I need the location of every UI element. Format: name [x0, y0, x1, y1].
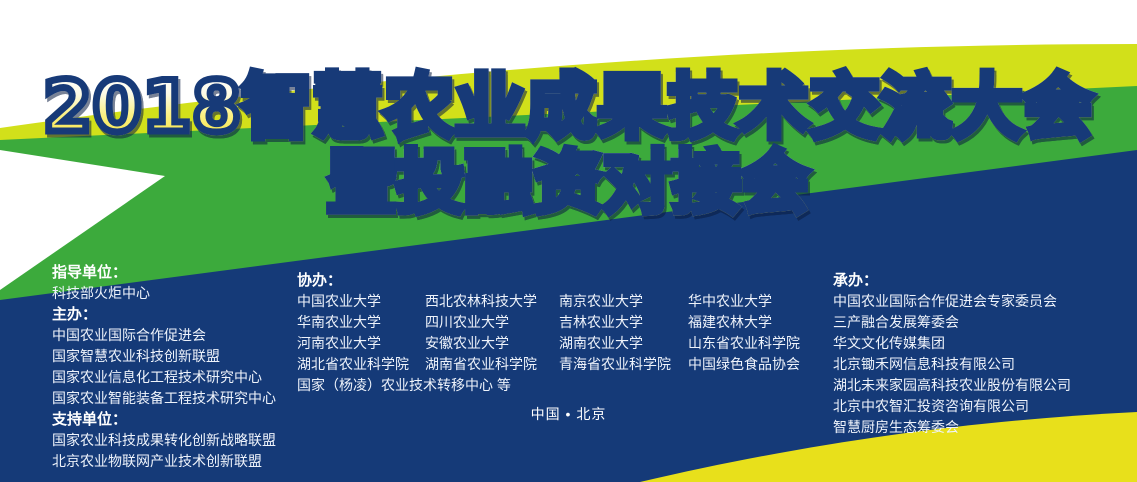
organizer-item: 中国农业国际合作促进会 [52, 325, 276, 346]
coorganizer-row: 中国农业大学 西北农林科技大学 南京农业大学 华中农业大学 [297, 291, 808, 312]
host-item: 湖北未来家园高科技农业股份有限公司 [833, 375, 1071, 396]
credits-column-middle: 协办： 中国农业大学 西北农林科技大学 南京农业大学 华中农业大学 华南农业大学… [297, 270, 808, 396]
coorganizer-item: 中国农业大学 [297, 291, 425, 312]
guidance-unit-heading: 指导单位： [52, 262, 276, 283]
coorganizer-item: 山东省农业科学院 [688, 333, 808, 354]
guidance-unit-item: 科技部火炬中心 [52, 283, 276, 304]
poster-banner: 2018智慧农业成果技术交流大会 暨投融资对接会 指导单位： 科技部火炬中心 主… [0, 0, 1137, 482]
venue-label: 中国 • 北京 [0, 404, 1137, 424]
host-item: 三产融合发展筹委会 [833, 312, 1071, 333]
host-item: 中国农业国际合作促进会专家委员会 [833, 291, 1071, 312]
support-unit-item: 北京农业物联网产业技术创新联盟 [52, 451, 276, 472]
coorganizer-item: 安徽农业大学 [425, 333, 559, 354]
coorganizer-item: 华南农业大学 [297, 312, 425, 333]
coorganizer-item: 西北农林科技大学 [425, 291, 559, 312]
coorganizer-item: 中国绿色食品协会 [688, 354, 808, 375]
credits-column-left: 指导单位： 科技部火炬中心 主办： 中国农业国际合作促进会 国家智慧农业科技创新… [52, 262, 276, 472]
host-item: 北京锄禾网信息科技有限公司 [833, 354, 1071, 375]
coorganizer-heading: 协办： [297, 270, 808, 291]
organizer-heading: 主办： [52, 304, 276, 325]
coorganizer-item: 湖北省农业科学院 [297, 354, 425, 375]
coorganizer-item: 吉林农业大学 [559, 312, 688, 333]
coorganizer-item: 福建农林大学 [688, 312, 808, 333]
coorganizer-item: 湖南省农业科学院 [425, 354, 559, 375]
coorganizer-item: 南京农业大学 [559, 291, 688, 312]
coorganizer-row: 湖北省农业科学院 湖南省农业科学院 青海省农业科学院 中国绿色食品协会 [297, 354, 808, 375]
coorganizer-last-item: 国家（杨凌）农业技术转移中心 等 [297, 375, 808, 396]
coorganizer-row: 华南农业大学 四川农业大学 吉林农业大学 福建农林大学 [297, 312, 808, 333]
host-item: 华文文化传媒集团 [833, 333, 1071, 354]
organizer-item: 国家农业信息化工程技术研究中心 [52, 367, 276, 388]
coorganizer-item: 青海省农业科学院 [559, 354, 688, 375]
host-heading: 承办： [833, 270, 1071, 291]
coorganizer-item: 河南农业大学 [297, 333, 425, 354]
coorganizer-item: 华中农业大学 [688, 291, 808, 312]
coorganizer-item: 四川农业大学 [425, 312, 559, 333]
coorganizer-row: 河南农业大学 安徽农业大学 湖南农业大学 山东省农业科学院 [297, 333, 808, 354]
support-unit-item: 国家农业科技成果转化创新战略联盟 [52, 430, 276, 451]
coorganizer-item: 湖南农业大学 [559, 333, 688, 354]
organizer-item: 国家智慧农业科技创新联盟 [52, 346, 276, 367]
